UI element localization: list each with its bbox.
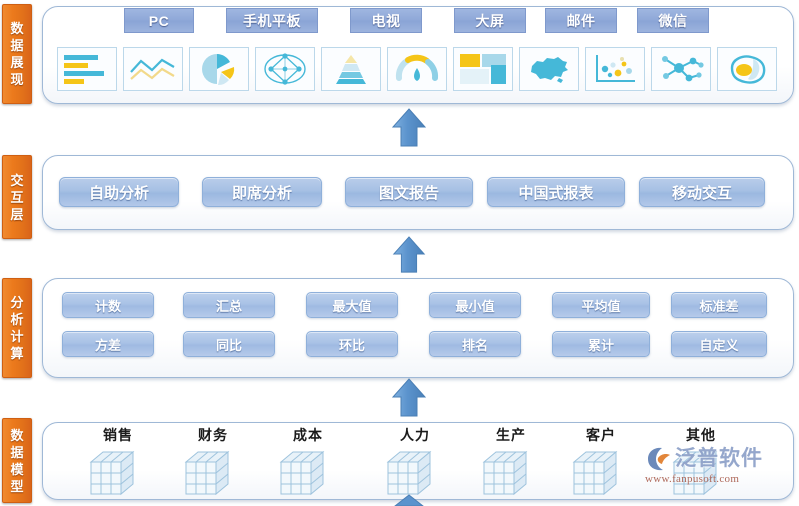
chart-tile-bubble-blob[interactable] bbox=[717, 47, 777, 91]
side-tab-char: 计 bbox=[10, 328, 23, 345]
data-cube-icon bbox=[384, 446, 446, 498]
side-tab-char: 算 bbox=[10, 345, 23, 362]
side-tab-interaction[interactable]: 交 互 层 bbox=[2, 155, 32, 239]
arrow-interaction-to-presentation bbox=[392, 108, 426, 148]
bubble-blob-icon bbox=[723, 52, 771, 86]
cube-label: 财务 bbox=[170, 425, 256, 445]
side-tab-presentation[interactable]: 数 据 展 现 bbox=[2, 4, 32, 104]
side-tab-analysis[interactable]: 分 析 计 算 bbox=[2, 278, 32, 378]
device-button-email[interactable]: 邮件 bbox=[545, 8, 617, 33]
cube-item[interactable]: 财务 bbox=[170, 425, 256, 498]
analysis-button-mom[interactable]: 环比 bbox=[306, 331, 398, 357]
cube-label: 人力 bbox=[372, 425, 458, 445]
chart-tile-pie[interactable] bbox=[189, 47, 249, 91]
cube-label: 客户 bbox=[558, 425, 644, 445]
data-cube-icon bbox=[480, 446, 542, 498]
chart-tile-bar[interactable] bbox=[57, 47, 117, 91]
arrow-bottom-inflow bbox=[392, 494, 426, 506]
device-button-wechat[interactable]: 微信 bbox=[637, 8, 709, 33]
analysis-button-max[interactable]: 最大值 bbox=[306, 292, 398, 318]
chart-tile-scatter[interactable] bbox=[585, 47, 645, 91]
cube-item[interactable]: 生产 bbox=[468, 425, 554, 498]
side-tab-char: 互 bbox=[10, 189, 23, 206]
gauge-chart-icon bbox=[393, 52, 441, 86]
pie-chart-icon bbox=[199, 52, 239, 86]
arrow-datamodel-to-analysis bbox=[392, 378, 426, 418]
cube-label: 销售 bbox=[75, 425, 161, 445]
chart-tile-relation-graph[interactable] bbox=[651, 47, 711, 91]
side-tab-char: 数 bbox=[10, 427, 23, 444]
analysis-button-min[interactable]: 最小值 bbox=[429, 292, 521, 318]
cube-item[interactable]: 成本 bbox=[265, 425, 351, 498]
radar-network-icon bbox=[262, 52, 308, 86]
cube-label: 成本 bbox=[265, 425, 351, 445]
china-map-icon bbox=[525, 53, 573, 85]
bar-chart-icon bbox=[62, 52, 112, 86]
side-tab-char: 模 bbox=[10, 461, 23, 478]
chart-tile-treemap[interactable] bbox=[453, 47, 513, 91]
device-button-mobile-tablet[interactable]: 手机平板 bbox=[226, 8, 318, 33]
device-button-tv[interactable]: 电视 bbox=[350, 8, 422, 33]
side-tab-char: 析 bbox=[10, 311, 23, 328]
chart-tile-radar[interactable] bbox=[255, 47, 315, 91]
data-cube-icon bbox=[670, 446, 732, 498]
chart-tile-gauge[interactable] bbox=[387, 47, 447, 91]
side-tab-char: 据 bbox=[10, 444, 23, 461]
data-cube-icon bbox=[182, 446, 244, 498]
side-tab-char: 层 bbox=[10, 206, 23, 223]
analysis-button-variance[interactable]: 方差 bbox=[62, 331, 154, 357]
analysis-button-rank[interactable]: 排名 bbox=[429, 331, 521, 357]
diagram-root: 数 据 展 现 交 互 层 分 析 计 算 数 据 模 型 PC 手机平板 电视… bbox=[0, 0, 799, 503]
cube-label: 其他 bbox=[658, 425, 744, 445]
side-tab-char: 现 bbox=[10, 71, 23, 88]
side-tab-char: 展 bbox=[10, 54, 23, 71]
cube-item[interactable]: 人力 bbox=[372, 425, 458, 498]
interaction-button-self-service[interactable]: 自助分析 bbox=[59, 177, 179, 207]
data-cube-icon bbox=[570, 446, 632, 498]
data-cube-icon bbox=[277, 446, 339, 498]
analysis-button-average[interactable]: 平均值 bbox=[552, 292, 650, 318]
chart-tile-pyramid[interactable] bbox=[321, 47, 381, 91]
side-tab-char: 分 bbox=[10, 294, 23, 311]
relation-graph-icon bbox=[657, 52, 705, 86]
chart-tile-china-map[interactable] bbox=[519, 47, 579, 91]
pyramid-chart-icon bbox=[328, 52, 374, 86]
side-tab-datamodel[interactable]: 数 据 模 型 bbox=[2, 418, 32, 503]
device-button-bigscreen[interactable]: 大屏 bbox=[454, 8, 526, 33]
scatter-chart-icon bbox=[591, 52, 639, 86]
chart-tile-line[interactable] bbox=[123, 47, 183, 91]
side-tab-char: 据 bbox=[10, 37, 23, 54]
analysis-button-sum[interactable]: 汇总 bbox=[183, 292, 275, 318]
arrow-analysis-to-interaction bbox=[392, 236, 426, 274]
cube-item[interactable]: 销售 bbox=[75, 425, 161, 498]
device-button-pc[interactable]: PC bbox=[124, 8, 194, 33]
cube-label: 生产 bbox=[468, 425, 554, 445]
side-tab-char: 交 bbox=[10, 172, 23, 189]
analysis-button-yoy[interactable]: 同比 bbox=[183, 331, 275, 357]
side-tab-char: 数 bbox=[10, 20, 23, 37]
treemap-chart-icon bbox=[458, 52, 508, 86]
cube-item[interactable]: 其他 bbox=[658, 425, 744, 498]
data-cube-icon bbox=[87, 446, 149, 498]
analysis-button-count[interactable]: 计数 bbox=[62, 292, 154, 318]
interaction-button-adhoc[interactable]: 即席分析 bbox=[202, 177, 322, 207]
interaction-button-mobile[interactable]: 移动交互 bbox=[639, 177, 765, 207]
line-chart-icon bbox=[128, 52, 178, 86]
cube-item[interactable]: 客户 bbox=[558, 425, 644, 498]
analysis-button-custom[interactable]: 自定义 bbox=[671, 331, 767, 357]
interaction-button-chinese-report[interactable]: 中国式报表 bbox=[487, 177, 625, 207]
analysis-button-stddev[interactable]: 标准差 bbox=[671, 292, 767, 318]
analysis-button-cumulative[interactable]: 累计 bbox=[552, 331, 650, 357]
interaction-button-graphic-report[interactable]: 图文报告 bbox=[345, 177, 473, 207]
side-tab-char: 型 bbox=[10, 478, 23, 495]
